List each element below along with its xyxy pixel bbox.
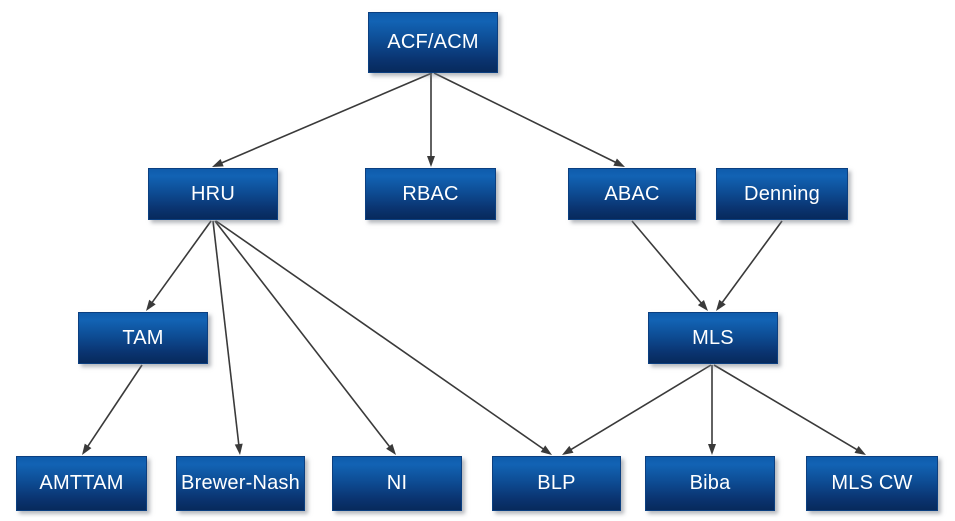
node-amttam[interactable]: AMTTAM [16, 456, 147, 511]
arrowhead [427, 156, 435, 167]
edge-hru-to-ni [215, 221, 396, 455]
arrowhead [854, 446, 866, 455]
node-label: Biba [646, 472, 774, 494]
node-mls_cw[interactable]: MLS CW [806, 456, 938, 511]
edge-mls-to-biba [708, 365, 716, 455]
node-abac[interactable]: ABAC [568, 168, 696, 220]
arrowhead [235, 444, 243, 455]
arrowhead [562, 446, 573, 455]
edge-line [570, 365, 711, 450]
node-acf_acm[interactable]: ACF/ACM [368, 12, 498, 73]
edge-line [721, 221, 782, 304]
node-label: MLS [649, 327, 777, 349]
edge-line [714, 365, 858, 450]
node-label: TAM [79, 327, 207, 349]
node-denning[interactable]: Denning [716, 168, 848, 220]
edge-tam-to-amttam [82, 365, 142, 455]
edge-line [434, 73, 617, 163]
arrowhead [82, 444, 91, 455]
arrowhead [386, 444, 396, 455]
edge-line [216, 221, 545, 450]
diagram-canvas: ACF/ACMHRURBACABACDenningTAMMLSAMTTAMBre… [0, 0, 955, 521]
arrowhead [541, 445, 552, 455]
node-hru[interactable]: HRU [148, 168, 278, 220]
edge-acf_acm-to-abac [434, 73, 625, 167]
node-brewer_nash[interactable]: Brewer-Nash [176, 456, 305, 511]
edge-hru-to-brewer_nash [213, 221, 243, 455]
arrowhead [212, 159, 224, 167]
edge-line [220, 73, 432, 163]
edge-acf_acm-to-rbac [427, 73, 435, 167]
edge-hru-to-tam [146, 221, 211, 311]
edge-mls-to-mls_cw [714, 365, 866, 455]
arrowhead [613, 159, 625, 167]
node-label: MLS CW [807, 472, 937, 494]
node-label: BLP [493, 472, 620, 494]
edge-line [215, 221, 390, 448]
edge-acf_acm-to-hru [212, 73, 432, 167]
node-label: ACF/ACM [369, 31, 497, 53]
edge-line [151, 221, 211, 304]
node-label: NI [333, 472, 461, 494]
node-label: Brewer-Nash [177, 472, 304, 494]
node-label: ABAC [569, 183, 695, 205]
node-rbac[interactable]: RBAC [365, 168, 496, 220]
edge-layer [0, 0, 955, 521]
node-label: Denning [717, 183, 847, 205]
edge-denning-to-mls [716, 221, 782, 311]
arrowhead [708, 444, 716, 455]
arrowhead [716, 300, 726, 311]
arrowhead [146, 300, 156, 311]
arrowhead [698, 300, 708, 311]
node-label: AMTTAM [17, 472, 146, 494]
node-tam[interactable]: TAM [78, 312, 208, 364]
edge-line [213, 221, 239, 446]
edge-abac-to-mls [632, 221, 708, 311]
edge-hru-to-blp [216, 221, 552, 455]
node-ni[interactable]: NI [332, 456, 462, 511]
node-label: RBAC [366, 183, 495, 205]
edge-mls-to-blp [562, 365, 711, 455]
node-mls[interactable]: MLS [648, 312, 778, 364]
edge-line [87, 365, 142, 448]
edge-line [632, 221, 702, 304]
node-biba[interactable]: Biba [645, 456, 775, 511]
node-label: HRU [149, 183, 277, 205]
node-blp[interactable]: BLP [492, 456, 621, 511]
